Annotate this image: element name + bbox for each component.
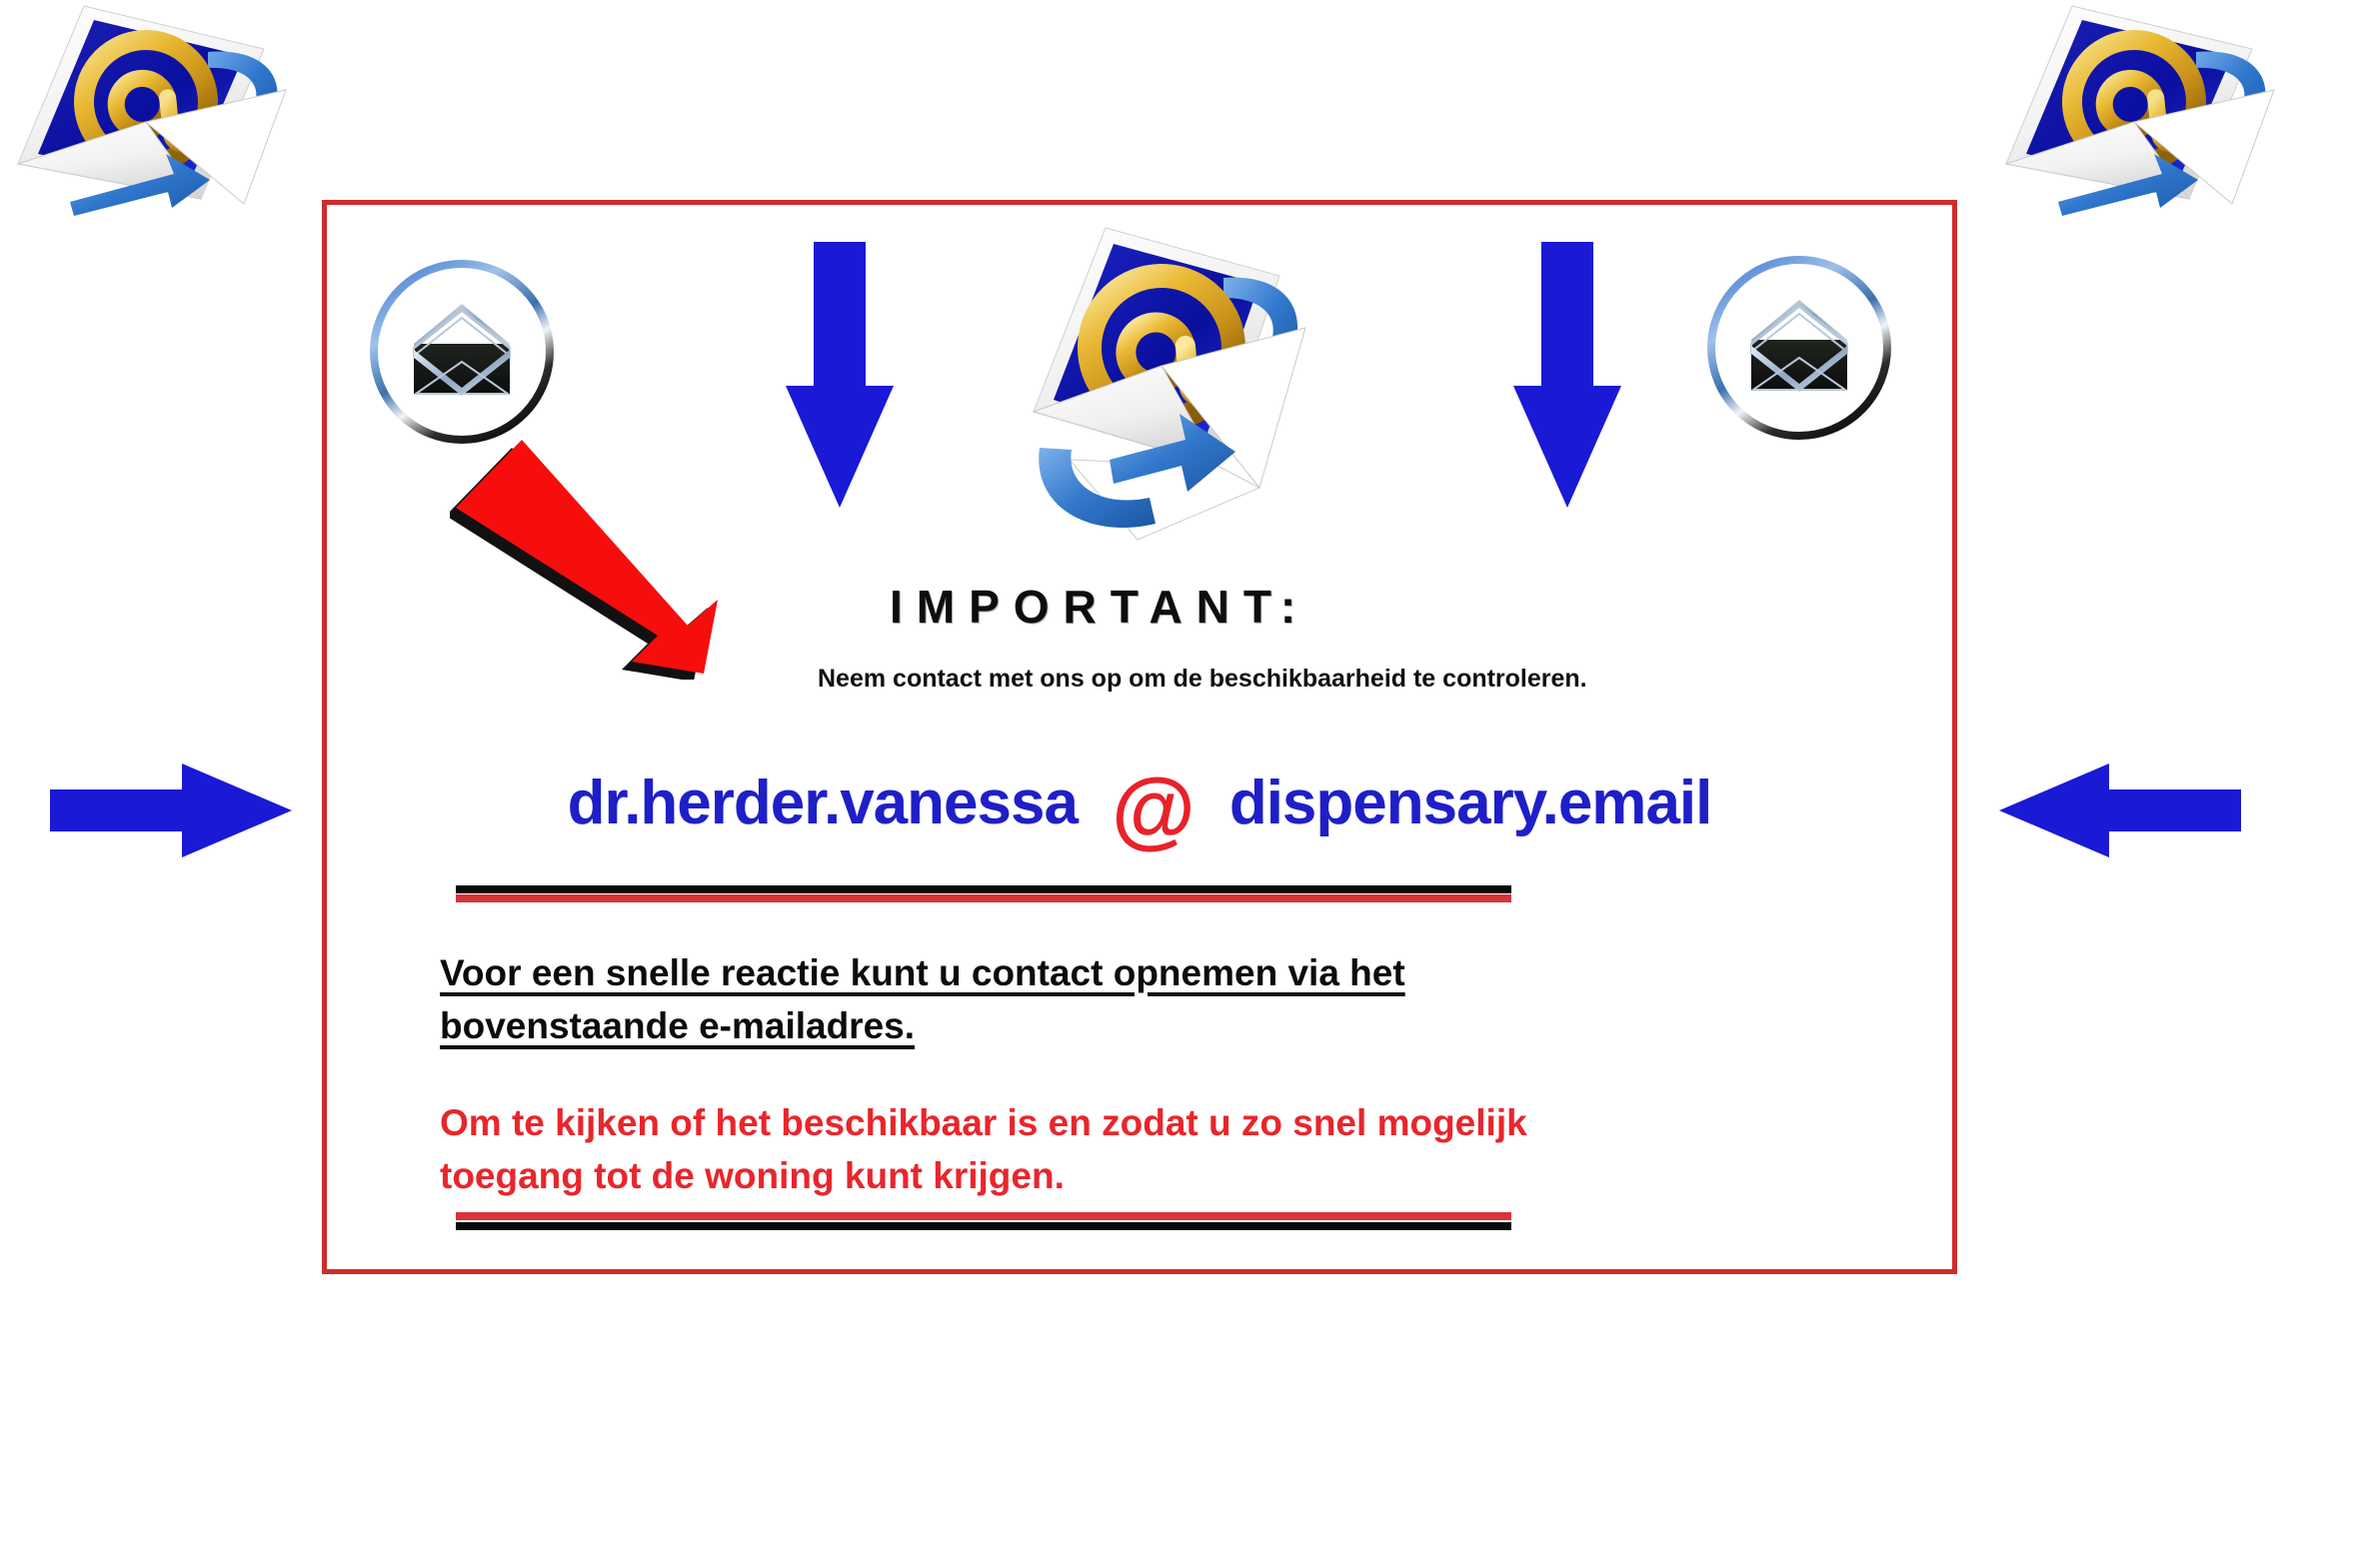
email-local-part[interactable]: dr.herder.vanessa xyxy=(568,768,1078,838)
page-title: IMPORTANT: xyxy=(890,580,1309,634)
divider-top xyxy=(456,885,1511,903)
blue-right-arrow-icon xyxy=(46,756,296,865)
email-domain[interactable]: dispensary.email xyxy=(1229,768,1712,838)
availability-note: Om te kijken of het beschikbaar is en zo… xyxy=(440,1097,1559,1202)
at-envelope-icon xyxy=(1010,198,1309,558)
open-envelope-circle-icon xyxy=(362,252,562,452)
open-envelope-circle-icon xyxy=(1699,248,1899,448)
divider-red-bar xyxy=(456,894,1511,902)
blue-down-arrow-icon xyxy=(1507,236,1627,516)
blue-left-arrow-icon xyxy=(1995,756,2245,865)
divider-black-bar xyxy=(456,1222,1511,1230)
at-envelope-icon xyxy=(1984,0,2294,219)
divider-black-bar xyxy=(456,885,1511,893)
at-symbol: @ xyxy=(1112,767,1195,852)
divider-bottom xyxy=(456,1212,1511,1230)
red-diagonal-arrow-icon xyxy=(450,430,730,680)
reply-note: Voor een snelle reactie kunt u contact o… xyxy=(440,947,1559,1052)
reply-note-text: Voor een snelle reactie kunt u contact o… xyxy=(440,952,1405,1046)
at-envelope-icon xyxy=(0,0,306,219)
email-address[interactable]: dr.herder.vanessa @ dispensary.email xyxy=(322,748,1957,857)
contact-note: Neem contact met ons op om de beschikbaa… xyxy=(818,660,1637,699)
poster-canvas: IMPORTANT: Neem contact met ons op om de… xyxy=(0,0,2380,1552)
blue-down-arrow-icon xyxy=(780,236,900,516)
divider-red-bar xyxy=(456,1212,1511,1220)
